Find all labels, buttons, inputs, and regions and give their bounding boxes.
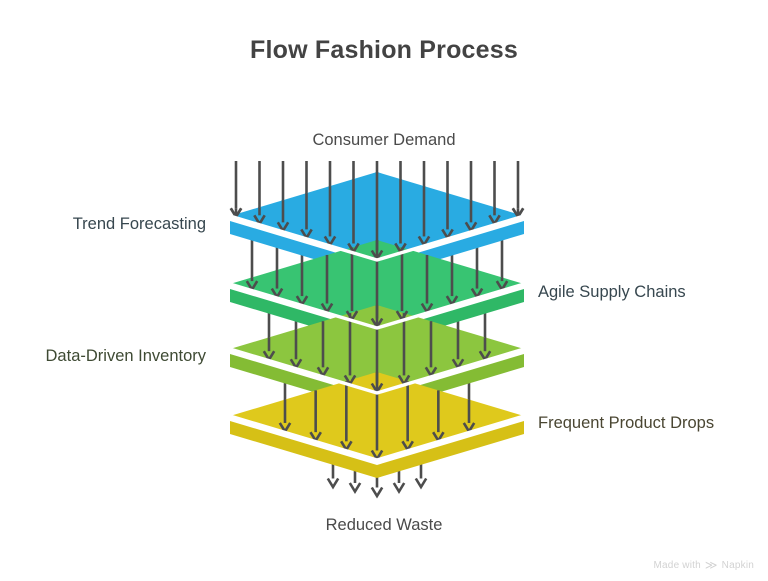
- band-layer-4-to-output-head-1: [328, 479, 338, 488]
- layer-label-frequent-product-drops: Frequent Product Drops: [538, 414, 714, 433]
- flow-output-label: Reduced Waste: [0, 516, 768, 535]
- layer-label-data-driven-inventory: Data-Driven Inventory: [46, 347, 206, 366]
- layer-label-trend-forecasting: Trend Forecasting: [73, 215, 206, 234]
- watermark-brand: Napkin: [722, 560, 754, 571]
- band-layer-4-to-output-head-2: [350, 483, 360, 492]
- band-layer-4-to-output-head-4: [394, 483, 404, 492]
- diagram-canvas: Flow Fashion Process Consumer Demand Tre…: [0, 0, 768, 581]
- napkin-watermark: Made with ≫ Napkin: [654, 559, 754, 571]
- band-layer-4-to-output-head-3: [372, 488, 382, 497]
- band-layer-4-to-output-head-5: [416, 479, 426, 488]
- flow-input-label: Consumer Demand: [0, 131, 768, 150]
- watermark-text: Made with: [654, 560, 701, 571]
- layer-label-agile-supply-chains: Agile Supply Chains: [538, 283, 686, 302]
- napkin-logo-icon: ≫: [705, 559, 718, 571]
